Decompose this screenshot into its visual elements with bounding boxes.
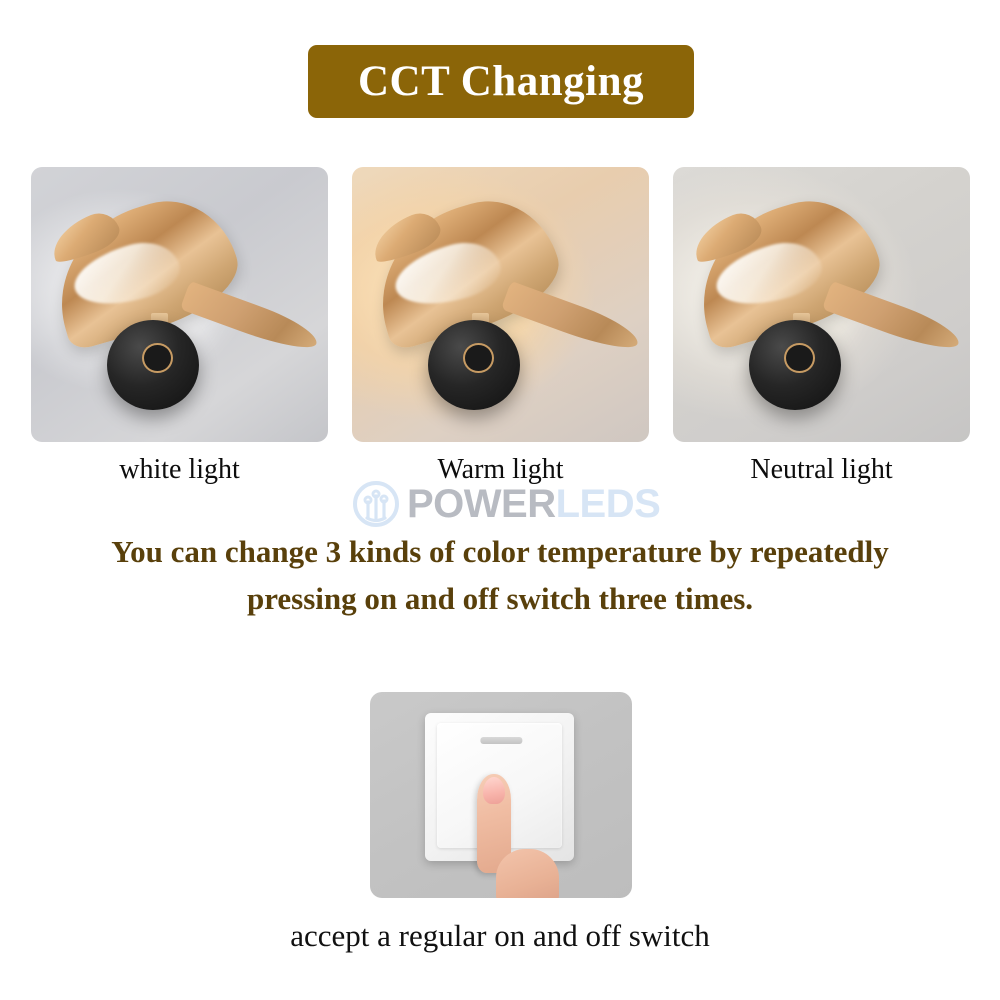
hand-lower-fingers — [496, 849, 559, 898]
description-line-1: You can change 3 kinds of color temperat… — [0, 528, 1000, 575]
page-title-badge: CCT Changing — [308, 45, 694, 118]
gallery-label-warm-light: Warm light — [352, 452, 649, 492]
lamp-base-ring — [784, 343, 815, 373]
gallery-image-white-light — [31, 167, 328, 442]
gallery-label-neutral-light: Neutral light — [673, 452, 970, 492]
gallery-image-warm-light — [352, 167, 649, 442]
gallery-image-neutral-light — [673, 167, 970, 442]
bird-lamp-illustration — [352, 167, 649, 442]
switch-caption: accept a regular on and off switch — [0, 915, 1000, 957]
bird-lamp-illustration — [673, 167, 970, 442]
switch-indicator-strip — [480, 737, 523, 744]
bird-lamp-illustration — [31, 167, 328, 442]
gallery-labels: white light Warm light Neutral light — [31, 452, 970, 492]
description-paragraph: You can change 3 kinds of color temperat… — [0, 528, 1000, 622]
cct-gallery — [31, 167, 970, 442]
gallery-label-white-light: white light — [31, 452, 328, 492]
fingernail — [483, 777, 505, 804]
lamp-base-ring — [463, 343, 494, 373]
lamp-base-ring — [142, 343, 173, 373]
page-title: CCT Changing — [358, 60, 644, 103]
switch-image — [370, 692, 632, 898]
description-line-2: pressing on and off switch three times. — [0, 575, 1000, 622]
